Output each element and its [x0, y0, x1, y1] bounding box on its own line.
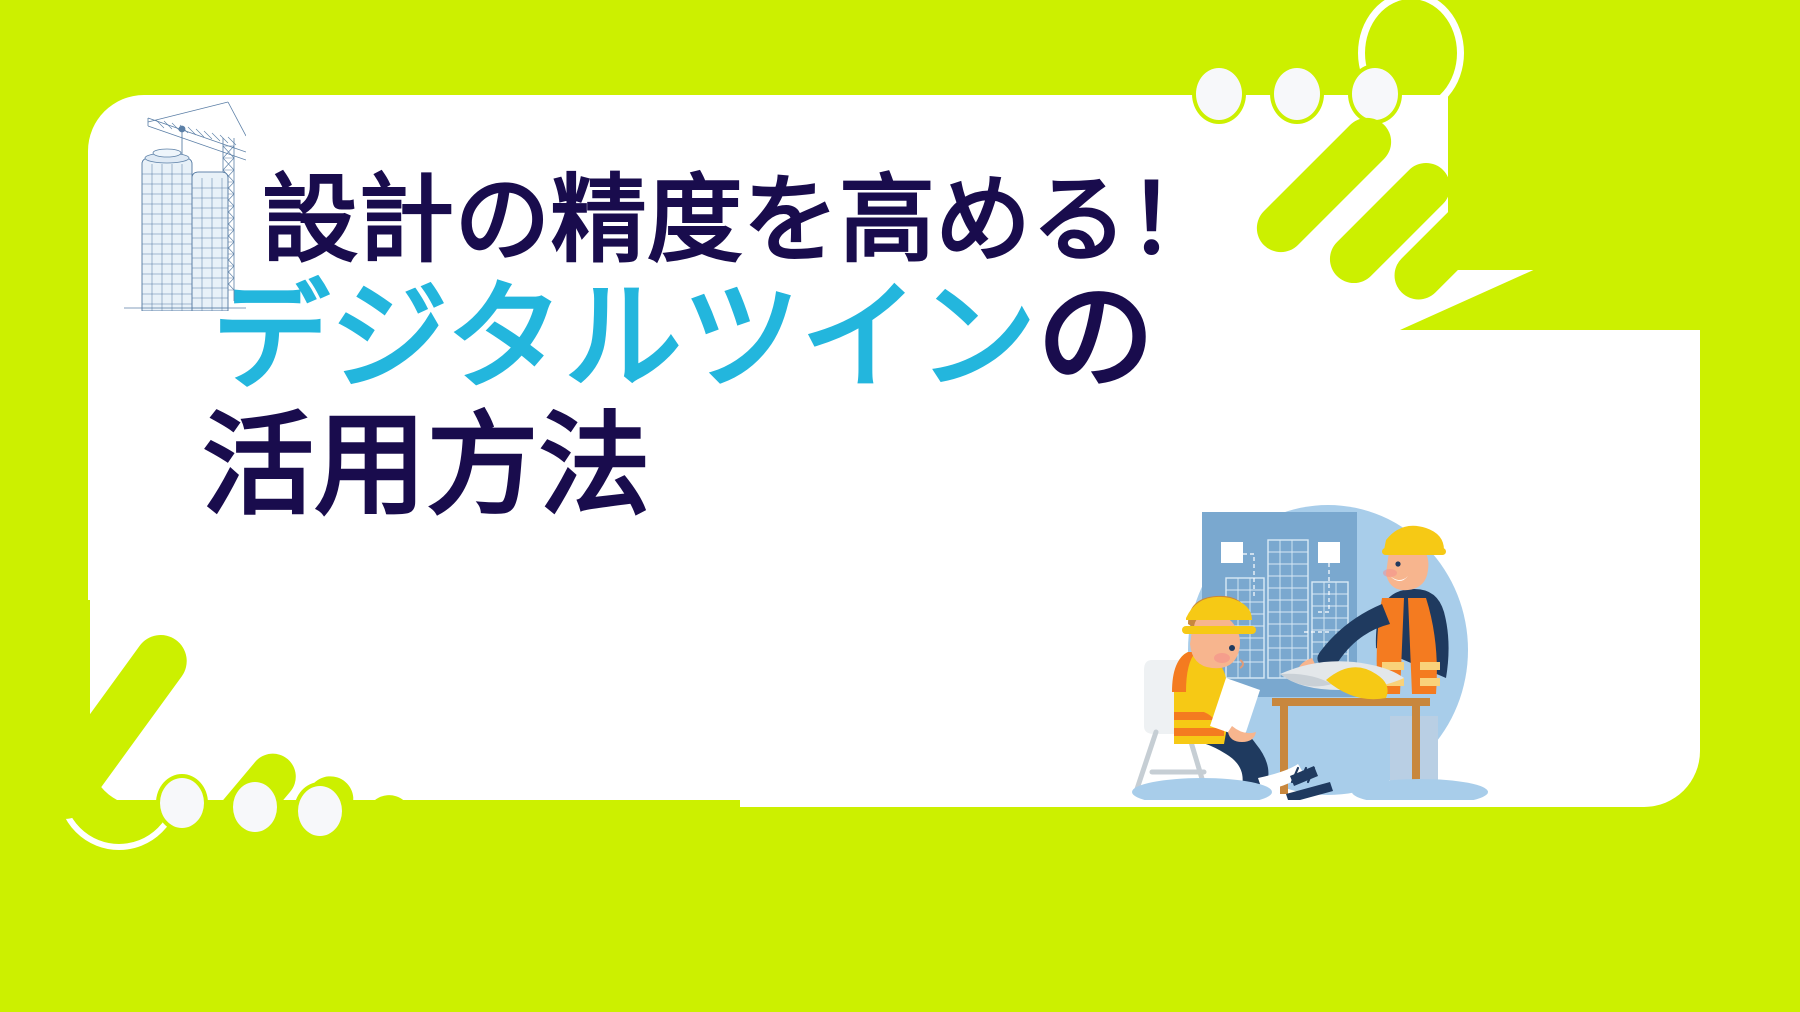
dot-icon	[298, 786, 342, 836]
headline-line-3: 活用方法	[202, 407, 1224, 526]
construction-workers-blueprint-illustration	[1090, 500, 1560, 800]
dot-icon	[1196, 68, 1242, 120]
headline-line-2: デジタルツインの	[212, 276, 1224, 401]
headline-line-1: 設計の精度を高める！	[262, 170, 1224, 272]
banner-stage: 設計の精度を高める！ デジタルツインの 活用方法	[0, 0, 1800, 1012]
dot-icon	[233, 782, 277, 832]
dot-icon	[1274, 68, 1320, 120]
headline-block: 設計の精度を高める！ デジタルツインの 活用方法	[240, 170, 1224, 526]
headline-highlight: デジタルツイン	[212, 272, 1037, 404]
dot-icon	[160, 778, 204, 828]
dot-icon	[1352, 68, 1398, 120]
skyscraper-crane-sketch-illustration	[96, 96, 246, 311]
headline-line-2-tail: の	[1037, 272, 1155, 404]
